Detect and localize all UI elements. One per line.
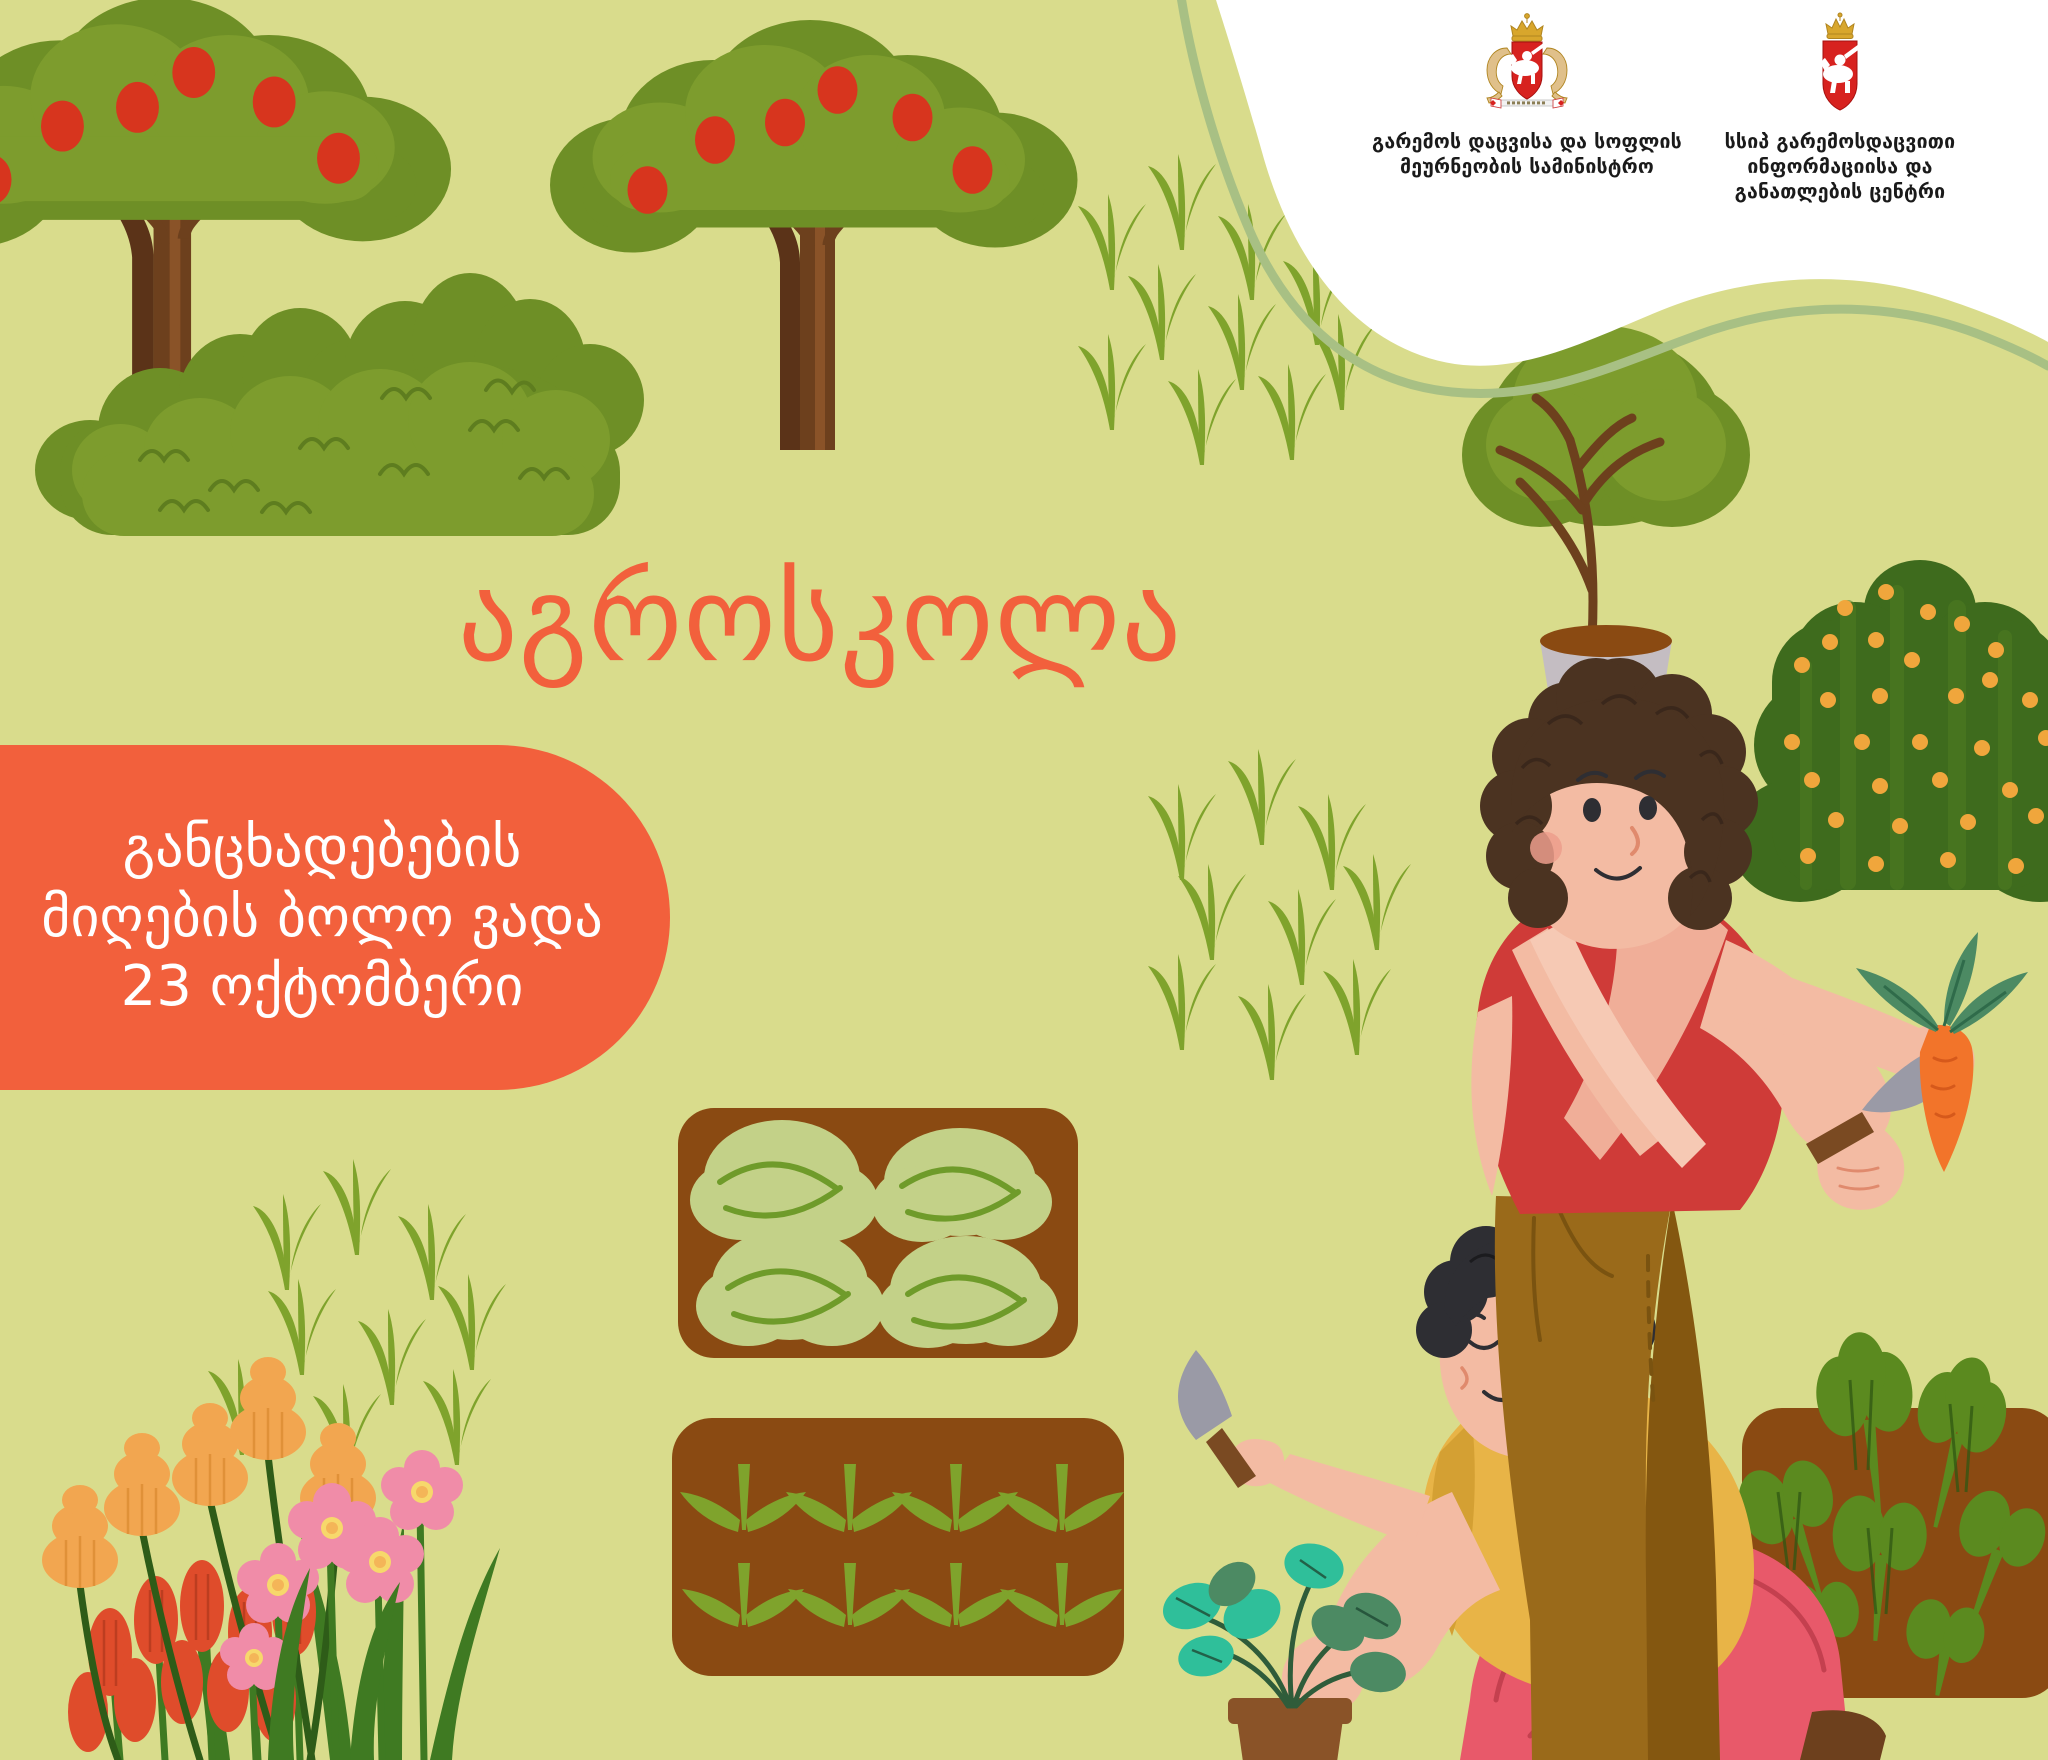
deadline-line-2: მიღების ბოლო ვადა bbox=[41, 883, 603, 952]
deadline-text: განცხადებების მიღების ბოლო ვადა 23 ოქტომ… bbox=[0, 813, 629, 1021]
seedling-bed bbox=[672, 1418, 1124, 1676]
deadline-line-1: განცხადებების bbox=[41, 813, 603, 882]
page-title: აგროსკოლა bbox=[0, 560, 1640, 678]
cabbage-bed bbox=[678, 1108, 1078, 1358]
deadline-banner: განცხადებების მიღების ბოლო ვადა 23 ოქტომ… bbox=[0, 745, 670, 1090]
poster-canvas: გარემოს დაცვისა და სოფლის მეურნეობის სამ… bbox=[0, 0, 2048, 1760]
deadline-line-3: 23 ოქტომბერი bbox=[41, 952, 603, 1021]
